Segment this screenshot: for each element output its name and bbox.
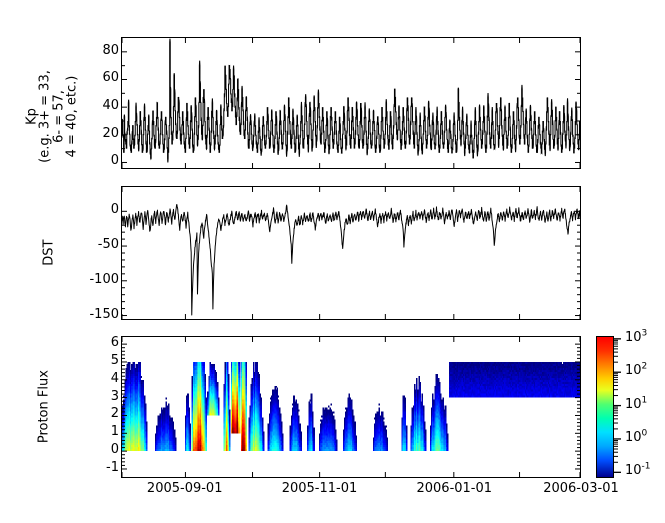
colorbar-tick-label: 100 bbox=[625, 430, 647, 445]
dst-panel bbox=[121, 186, 581, 320]
ytick-label: -50 bbox=[59, 237, 119, 252]
ytick-label: -150 bbox=[59, 307, 119, 322]
ytick-label: 2 bbox=[59, 406, 119, 421]
ytick-label: 60 bbox=[59, 70, 119, 85]
ytick-label: 40 bbox=[59, 98, 119, 113]
ytick-label: 6 bbox=[59, 335, 119, 350]
ytick-label: 5 bbox=[59, 353, 119, 368]
proton-flux-panel bbox=[121, 336, 581, 478]
dst-series-plot bbox=[122, 187, 580, 319]
colorbar-tick-label: 10-1 bbox=[625, 463, 651, 478]
dst-axis-label-text: DST bbox=[42, 216, 55, 290]
ytick-label: -100 bbox=[59, 272, 119, 287]
ytick-label: 0 bbox=[59, 202, 119, 217]
proton-flux-colorbar bbox=[596, 336, 614, 478]
proton-flux-spectrogram bbox=[122, 337, 580, 477]
colorbar-tick-label: 101 bbox=[625, 397, 647, 412]
kp-axis-label-line-1: Kp bbox=[26, 52, 39, 182]
colorbar-tick-label: 102 bbox=[625, 363, 647, 378]
ytick-label: 80 bbox=[59, 43, 119, 58]
ytick-label: 3 bbox=[59, 389, 119, 404]
xtick-label: 2005-09-01 bbox=[125, 481, 245, 496]
kp-panel bbox=[121, 37, 581, 169]
proton-flux-axis-label-text: Proton Flux bbox=[37, 349, 50, 465]
ytick-label: 4 bbox=[59, 371, 119, 386]
colorbar-tick-label: 103 bbox=[625, 330, 647, 345]
ytick-label: 0 bbox=[59, 153, 119, 168]
xtick-label: 2005-11-01 bbox=[259, 481, 379, 496]
figure-canvas: Kp (e.g. 3+ = 33, 6- = 57, 4 = 40, etc.)… bbox=[0, 0, 665, 523]
xtick-label: 2006-03-01 bbox=[521, 481, 641, 496]
ytick-label: 1 bbox=[59, 424, 119, 439]
proton-flux-axis-label: Proton Flux bbox=[24, 336, 64, 478]
kp-axis-label-line-2: (e.g. 3+ = 33, bbox=[39, 52, 52, 182]
xtick-label: 2006-01-01 bbox=[394, 481, 514, 496]
ytick-label: 0 bbox=[59, 442, 119, 457]
kp-series-plot bbox=[122, 38, 580, 168]
ytick-label: 20 bbox=[59, 126, 119, 141]
ytick-label: -1 bbox=[59, 460, 119, 475]
